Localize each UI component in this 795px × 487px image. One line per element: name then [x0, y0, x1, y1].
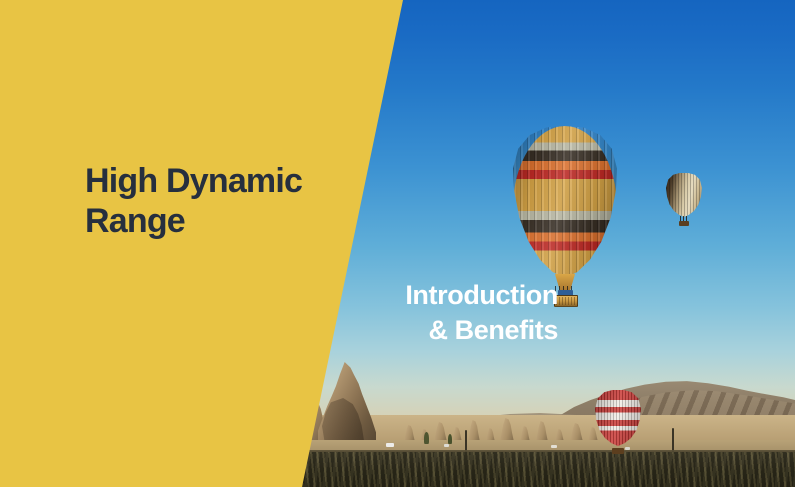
utility-pole [672, 428, 674, 452]
fairy-chimneys-cluster [400, 408, 600, 442]
balloon-red-gores [595, 390, 641, 446]
slide-canvas: High Dynamic Range Introduction & Benefi… [0, 0, 795, 487]
vehicle-speck [386, 443, 394, 447]
page-subtitle: Introduction & Benefits [300, 278, 558, 347]
balloon-small-basket [679, 221, 689, 226]
page-title-line-1: High Dynamic [85, 162, 375, 202]
balloon-red-basket [612, 448, 624, 454]
vehicle-speck [444, 444, 449, 447]
page-title-line-2: Range [85, 202, 375, 242]
balloon-main-shading [513, 126, 617, 278]
utility-pole [465, 430, 467, 452]
page-title: High Dynamic Range [85, 162, 375, 242]
vehicle-speck [551, 445, 557, 448]
page-subtitle-line-2: & Benefits [300, 313, 558, 348]
balloon-red-white [595, 390, 641, 456]
page-subtitle-line-1: Introduction [300, 278, 558, 313]
balloon-small-gores [666, 173, 702, 217]
tree-speck [448, 434, 452, 444]
tree-speck [424, 432, 429, 444]
balloon-small-distant [666, 173, 702, 227]
